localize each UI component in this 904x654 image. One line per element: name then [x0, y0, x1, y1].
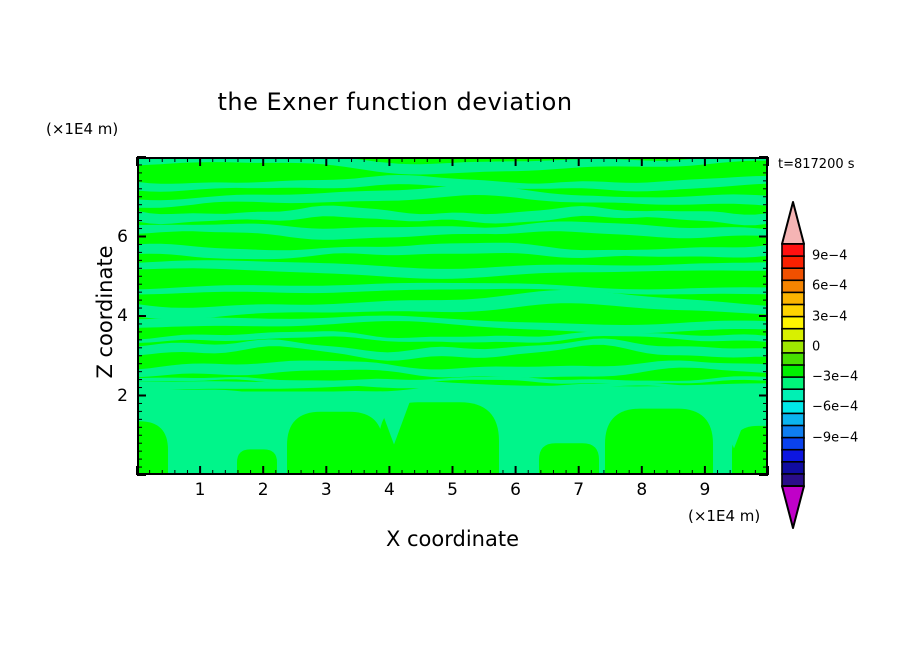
colorbar-band [782, 341, 804, 354]
convective-cells [139, 376, 766, 473]
x-tick-label: 6 [510, 480, 521, 500]
x-tick-label: 8 [636, 480, 647, 500]
x-tick-label: 9 [699, 480, 710, 500]
page-title: the Exner function deviation [0, 88, 790, 116]
colorbar-band [782, 292, 804, 305]
colorbar-tick-label: −9e−4 [812, 430, 858, 445]
x-tick-label: 7 [573, 480, 584, 500]
colorbar-tick-label: 0 [812, 339, 820, 354]
colorbar-band [782, 450, 804, 463]
colorbar [778, 200, 808, 530]
colorbar-band [782, 377, 804, 390]
colorbar-tick-label: 9e−4 [812, 249, 847, 264]
colorbar-tick-label: 6e−4 [812, 279, 847, 294]
x-tick-label: 4 [384, 480, 395, 500]
colorbar-tick-label: 3e−4 [812, 309, 847, 324]
convective-cell [237, 449, 277, 473]
contour-plot-area [137, 157, 768, 475]
colorbar-band [782, 389, 804, 402]
convective-cell [287, 412, 383, 473]
y-axis-title: Z coordinate [93, 182, 117, 442]
colorbar-band [782, 462, 804, 475]
convective-cell [605, 409, 713, 473]
x-tick-label: 2 [258, 480, 269, 500]
x-tick-label: 3 [321, 480, 332, 500]
colorbar-band [782, 438, 804, 451]
colorbar-band [782, 329, 804, 342]
colorbar-band [782, 305, 804, 318]
colorbar-band [782, 268, 804, 281]
x-tick-label: 1 [195, 480, 206, 500]
colorbar-tick-label: −3e−4 [812, 370, 858, 385]
colorbar-band [782, 413, 804, 426]
colorbar-tick-label: −6e−4 [812, 400, 858, 415]
colorbar-band [782, 426, 804, 439]
colorbar-band [782, 256, 804, 269]
colorbar-band [782, 474, 804, 487]
convective-cell [539, 443, 599, 473]
colorbar-band [782, 280, 804, 293]
colorbar-cap-bottom [782, 486, 804, 528]
colorbar-band [782, 401, 804, 414]
timestamp-annotation: t=817200 s [778, 157, 855, 172]
x-tick-label: 5 [447, 480, 458, 500]
x-axis-title: X coordinate [137, 527, 768, 551]
x-axis-unit-label: (×1E4 m) [688, 507, 760, 525]
colorbar-band [782, 317, 804, 330]
colorbar-swatches [778, 200, 808, 530]
colorbar-band [782, 244, 804, 257]
y-axis-unit-label: (×1E4 m) [46, 120, 118, 138]
colorbar-band [782, 365, 804, 378]
colorbar-cap-top [782, 202, 804, 244]
colorbar-band [782, 353, 804, 366]
contour-field [139, 159, 766, 473]
